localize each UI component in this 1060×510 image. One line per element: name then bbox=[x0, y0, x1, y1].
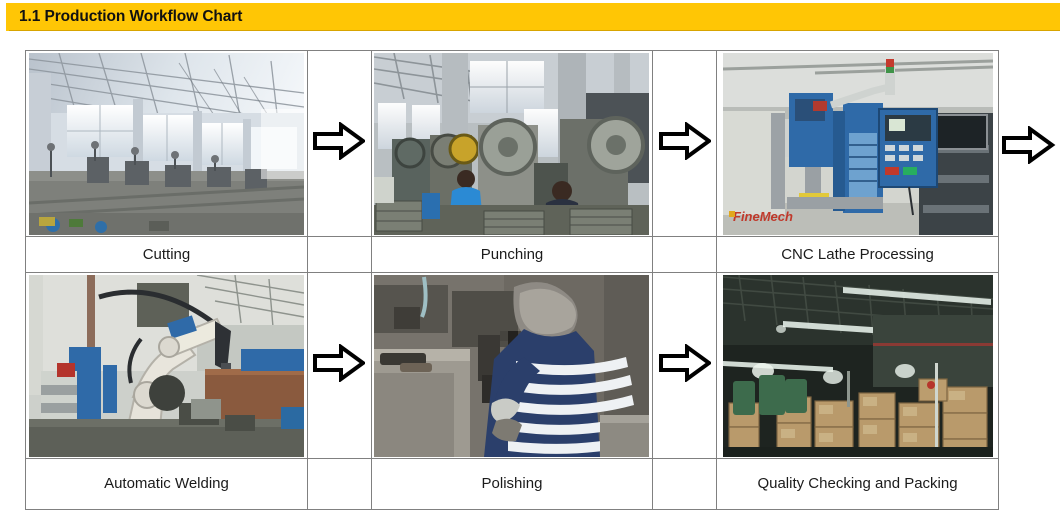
caption-spacer bbox=[653, 237, 717, 273]
workflow-cell-punching bbox=[371, 51, 653, 237]
caption-cutting: Cutting bbox=[26, 237, 308, 273]
photo-polishing bbox=[374, 275, 649, 457]
workflow-cell-polishing bbox=[371, 273, 653, 459]
photo-cutting bbox=[29, 53, 304, 235]
workflow-arrow-1 bbox=[307, 51, 371, 237]
table-row: Cutting Punching CNC Lathe Processing bbox=[26, 237, 999, 273]
page-title: 1.1 Production Workflow Chart bbox=[6, 9, 242, 25]
caption-cnc-lathe: CNC Lathe Processing bbox=[717, 237, 999, 273]
caption-spacer bbox=[307, 237, 371, 273]
photo-punching bbox=[374, 53, 649, 235]
photo-quality-checking-packing bbox=[723, 275, 993, 457]
photo-automatic-welding bbox=[29, 275, 304, 457]
right-block-arrow-icon bbox=[996, 126, 1060, 164]
caption-polishing: Polishing bbox=[371, 459, 653, 510]
svg-text:FineMech: FineMech bbox=[733, 209, 793, 224]
table-row: FineMech bbox=[26, 51, 999, 237]
caption-punching: Punching bbox=[371, 237, 653, 273]
right-block-arrow-icon bbox=[659, 344, 711, 382]
workflow-table: FineMech Cutting Punching CNC Lathe Proc… bbox=[25, 50, 999, 510]
photo-cnc-lathe: FineMech bbox=[723, 53, 993, 235]
caption-automatic-welding: Automatic Welding bbox=[26, 459, 308, 510]
table-row bbox=[26, 273, 999, 459]
workflow-arrow-3 bbox=[307, 273, 371, 459]
workflow-arrow-4 bbox=[653, 273, 717, 459]
workflow-cell-cutting bbox=[26, 51, 308, 237]
caption-spacer bbox=[653, 459, 717, 510]
workflow-cell-welding bbox=[26, 273, 308, 459]
section-title-bar: 1.1 Production Workflow Chart bbox=[6, 3, 1060, 31]
right-block-arrow-icon bbox=[313, 122, 365, 160]
production-workflow-page: 1.1 Production Workflow Chart bbox=[0, 0, 1060, 498]
workflow-cell-quality-packing bbox=[717, 273, 999, 459]
table-row: Automatic Welding Polishing Quality Chec… bbox=[26, 459, 999, 510]
caption-spacer bbox=[307, 459, 371, 510]
workflow-arrow-2 bbox=[653, 51, 717, 237]
right-block-arrow-icon bbox=[313, 344, 365, 382]
workflow-cell-cnc: FineMech bbox=[717, 51, 999, 237]
caption-quality-checking-packing: Quality Checking and Packing bbox=[717, 459, 999, 510]
right-block-arrow-icon bbox=[659, 122, 711, 160]
title-bar-accent bbox=[6, 3, 9, 31]
